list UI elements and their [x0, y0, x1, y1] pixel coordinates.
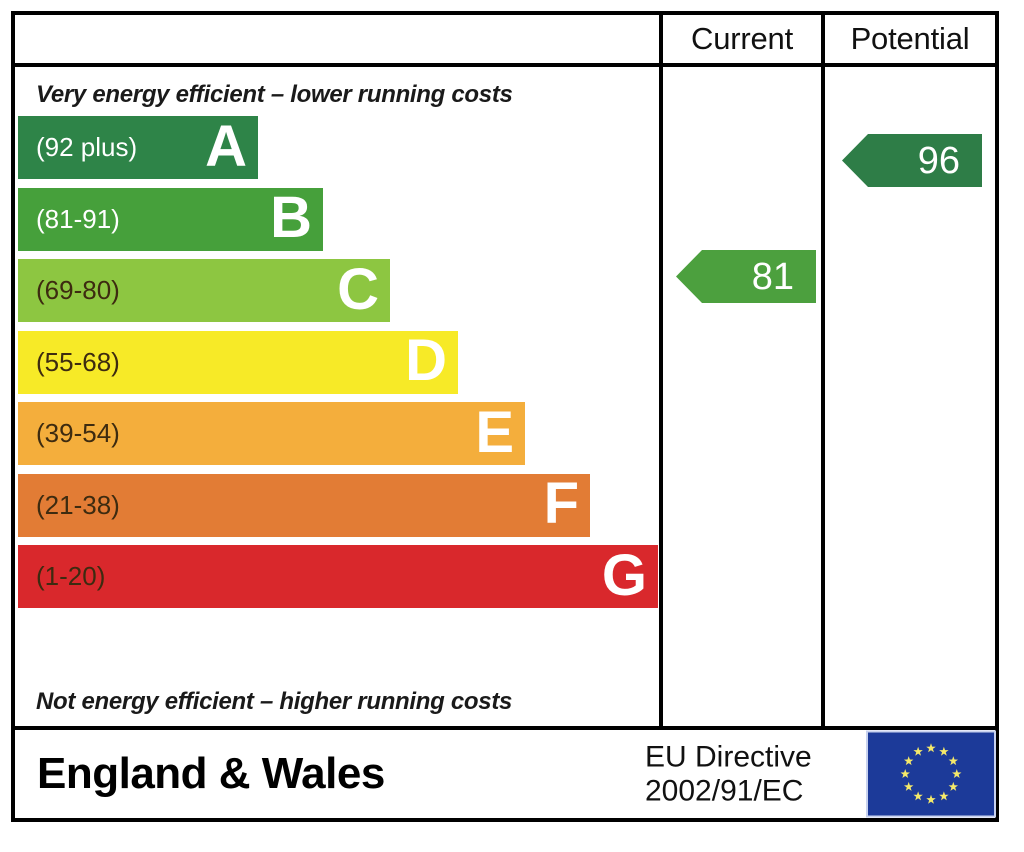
band-b: (81-91)B: [18, 188, 323, 251]
band-letter-a: A: [205, 117, 246, 175]
band-f: (21-38)F: [18, 474, 590, 537]
band-range-label: (81-91): [36, 204, 120, 235]
column-divider-current: [659, 67, 663, 726]
potential-rating-arrow: 96: [842, 134, 982, 187]
band-range-label: (21-38): [36, 490, 120, 521]
header-current-label: Current: [659, 15, 821, 63]
column-divider-potential: [821, 67, 825, 726]
band-d: (55-68)D: [18, 331, 458, 394]
band-range-label: (55-68): [36, 347, 120, 378]
current-rating-value: 81: [752, 258, 794, 296]
band-range-label: (1-20): [36, 561, 105, 592]
footer-directive-line1: EU Directive: [645, 740, 812, 774]
band-e: (39-54)E: [18, 402, 525, 465]
band-letter-g: G: [602, 546, 646, 604]
band-letter-f: F: [544, 475, 578, 533]
band-letter-c: C: [337, 260, 378, 318]
band-g: (1-20)G: [18, 545, 658, 608]
header-blank-cell: [15, 15, 659, 63]
potential-rating-value: 96: [918, 142, 960, 180]
chart-body: Very energy efficient – lower running co…: [15, 67, 995, 726]
band-range-label: (69-80): [36, 275, 120, 306]
chart-header-row: Current Potential: [15, 15, 995, 67]
epc-frame: Current Potential Very energy efficient …: [11, 11, 999, 822]
eu-flag-icon: [866, 731, 996, 818]
band-letter-d: D: [405, 332, 446, 390]
band-letter-b: B: [270, 189, 311, 247]
header-potential-label: Potential: [821, 15, 995, 63]
band-c: (69-80)C: [18, 259, 390, 322]
chart-footer-row: England & Wales EU Directive 2002/91/EC: [15, 726, 995, 818]
band-a: (92 plus)A: [18, 116, 258, 179]
band-range-label: (92 plus): [36, 132, 137, 163]
band-letter-e: E: [475, 403, 513, 461]
footer-directive-label: EU Directive 2002/91/EC: [645, 740, 812, 807]
band-range-label: (39-54): [36, 418, 120, 449]
band-list: (92 plus)A(81-91)B(69-80)C(55-68)D(39-54…: [18, 67, 659, 726]
footer-region-label: England & Wales: [37, 749, 385, 799]
current-rating-arrow: 81: [676, 250, 816, 303]
footer-directive-line2: 2002/91/EC: [645, 774, 812, 808]
epc-chart: Current Potential Very energy efficient …: [0, 0, 1024, 852]
